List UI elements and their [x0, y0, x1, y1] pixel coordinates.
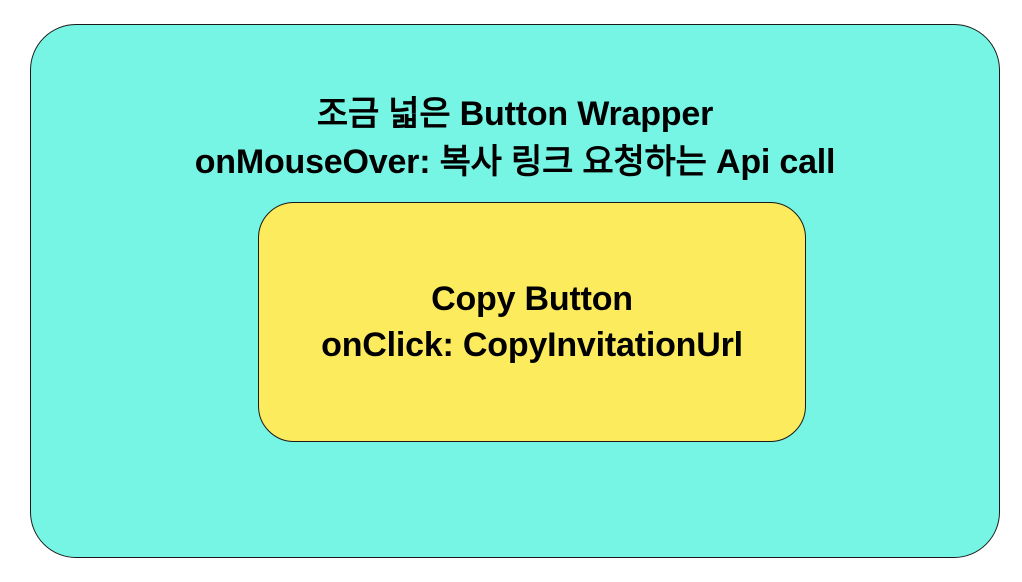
copy-button-label-line-2: onClick: CopyInvitationUrl	[321, 322, 743, 368]
copy-button[interactable]: Copy Button onClick: CopyInvitationUrl	[258, 202, 806, 442]
button-wrapper-label: 조금 넓은 Button Wrapper onMouseOver: 복사 링크 …	[195, 90, 836, 186]
button-wrapper-label-line-1: 조금 넓은 Button Wrapper	[195, 90, 836, 138]
button-wrapper[interactable]: 조금 넓은 Button Wrapper onMouseOver: 복사 링크 …	[30, 24, 1000, 558]
diagram-canvas: 조금 넓은 Button Wrapper onMouseOver: 복사 링크 …	[0, 0, 1022, 582]
button-wrapper-label-line-2: onMouseOver: 복사 링크 요청하는 Api call	[195, 138, 836, 186]
copy-button-label: Copy Button onClick: CopyInvitationUrl	[321, 276, 743, 368]
copy-button-label-line-1: Copy Button	[321, 276, 743, 322]
